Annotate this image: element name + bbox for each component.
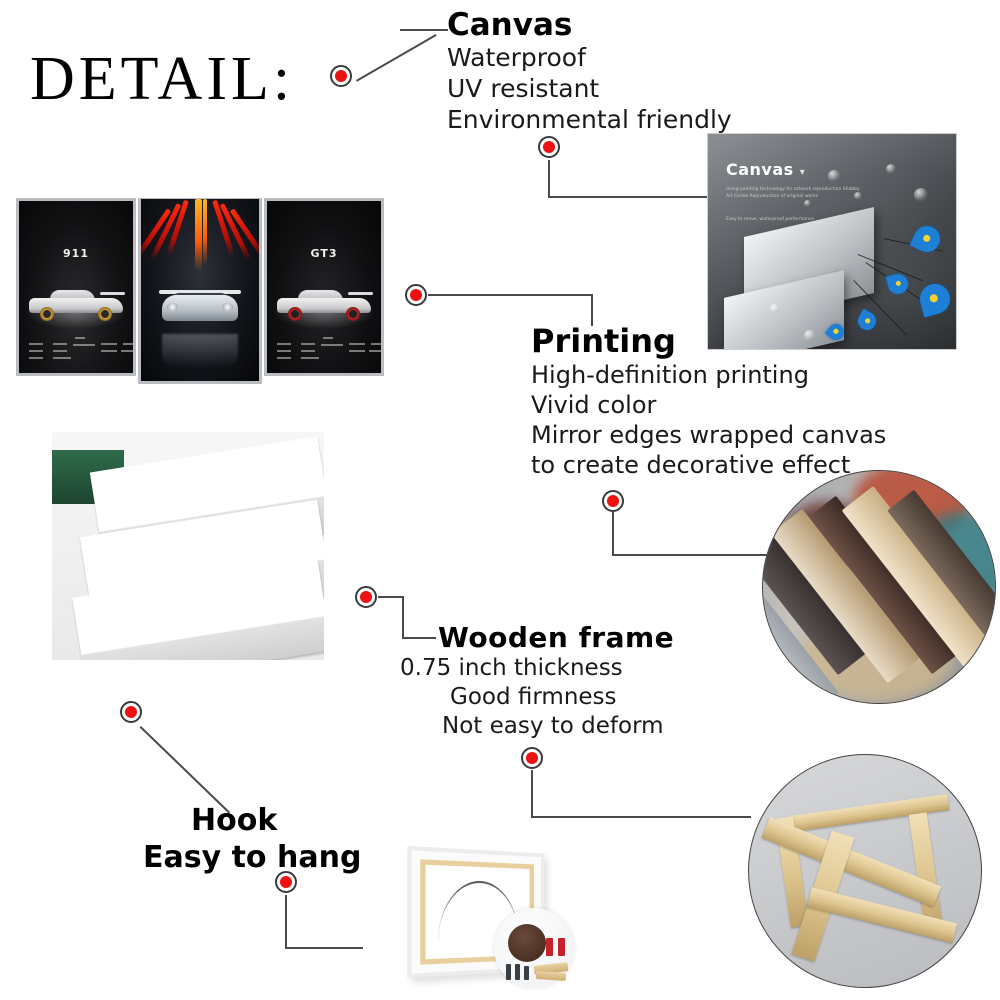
car-silhouette-front-center <box>162 285 238 327</box>
connector-line-hookphoto-horizontal <box>285 947 363 949</box>
canvas-photo-overlay-sub-1: Using painting technology for artwork re… <box>726 186 866 200</box>
callout-dot-hook[interactable] <box>120 701 142 723</box>
hook-heading: Hook <box>191 802 361 839</box>
printing-line-3: Mirror edges wrapped canvas <box>531 420 886 450</box>
connector-line-canvas-horizontal <box>400 29 448 31</box>
car-silhouette-side-left <box>29 287 122 321</box>
poster-panel-left: 911 <box>16 198 136 376</box>
canvas-line-2: UV resistant <box>447 73 732 104</box>
wooden-frame-heading: Wooden frame <box>438 622 674 654</box>
poster-left-spec-lines <box>27 337 125 363</box>
callout-text-wooden-frame: Wooden frame 0.75 inch thickness Good fi… <box>400 622 674 741</box>
wooden-stretcher-bar-closeup <box>748 754 982 988</box>
connector-line-canvasphoto-horizontal <box>548 196 708 198</box>
canvas-photo-overlay-title: Canvas▾ <box>726 160 805 179</box>
connector-line-mirror-horizontal <box>612 554 777 556</box>
canvas-line-3: Environmental friendly <box>447 104 732 135</box>
poster-center-light-streaks <box>141 199 259 286</box>
canvas-heading: Canvas <box>447 8 732 42</box>
connector-line-canvasphoto-vertical <box>548 160 550 198</box>
connector-line-canvas-diagonal <box>356 34 437 82</box>
poster-center-reflection <box>162 334 238 368</box>
car-silhouette-side-right <box>277 287 370 321</box>
callout-text-hook: Hook Easy to hang <box>143 802 361 876</box>
canvas-material-photo: Canvas▾ Using painting technology for ar… <box>707 133 957 350</box>
blue-flower-2 <box>886 272 910 296</box>
chevron-down-icon: ▾ <box>800 167 806 178</box>
connector-line-wood-horizontal-1 <box>378 596 404 598</box>
wooden-frame-line-1: 0.75 inch thickness <box>400 654 674 683</box>
canvas-back-hanging-hardware-photo <box>385 838 580 990</box>
connector-line-mirror-vertical <box>612 512 614 556</box>
hook-subheading: Easy to hang <box>143 839 361 876</box>
poster-right-spec-lines <box>275 337 373 363</box>
blue-flower-4 <box>855 309 880 334</box>
connector-line-woodphoto-horizontal <box>531 816 751 818</box>
detail-infographic: DETAIL: Canvas Waterproof UV resistant E… <box>0 0 1000 1000</box>
poster-left-label: 911 <box>63 247 89 260</box>
callout-dot-printing[interactable] <box>405 284 427 306</box>
poster-panel-center <box>138 198 262 384</box>
blue-flower-1 <box>910 222 945 257</box>
connector-line-hookphoto-vertical <box>285 895 287 949</box>
canvas-photo-overlay-sub-2: Easy to move, waterproof performance <box>726 216 866 223</box>
callout-text-canvas: Canvas Waterproof UV resistant Environme… <box>447 8 732 135</box>
printing-line-2: Vivid color <box>531 390 886 420</box>
sawtooth-coil <box>508 924 546 962</box>
printing-line-4: to create decorative effect <box>531 450 886 480</box>
callout-dot-mirror-edge[interactable] <box>602 490 624 512</box>
mirror-wrapped-edge-closeup <box>762 470 996 704</box>
callout-dot-wooden-frame-photo[interactable] <box>521 747 543 769</box>
wooden-frame-line-3: Not easy to deform <box>442 712 674 741</box>
callout-dot-wooden-frame[interactable] <box>355 586 377 608</box>
poster-panel-right: GT3 <box>264 198 384 376</box>
wooden-frame-line-2: Good firmness <box>450 683 674 712</box>
blue-flower-3 <box>917 281 954 318</box>
connector-line-woodphoto-vertical <box>531 770 533 818</box>
connector-line-printing-horizontal <box>428 294 593 296</box>
stacked-blank-canvas-photo <box>52 432 324 660</box>
connector-line-hook-diagonal <box>140 726 231 814</box>
printing-line-1: High-definition printing <box>531 360 886 390</box>
poster-right-label: GT3 <box>311 247 338 260</box>
car-poster-triptych: 911 <box>16 198 384 386</box>
hardware-inset-circle <box>494 908 574 988</box>
canvas-line-1: Waterproof <box>447 42 732 73</box>
callout-dot-canvas-photo[interactable] <box>538 136 560 158</box>
callout-dot-canvas[interactable] <box>330 65 352 87</box>
page-title: DETAIL: <box>30 48 294 110</box>
